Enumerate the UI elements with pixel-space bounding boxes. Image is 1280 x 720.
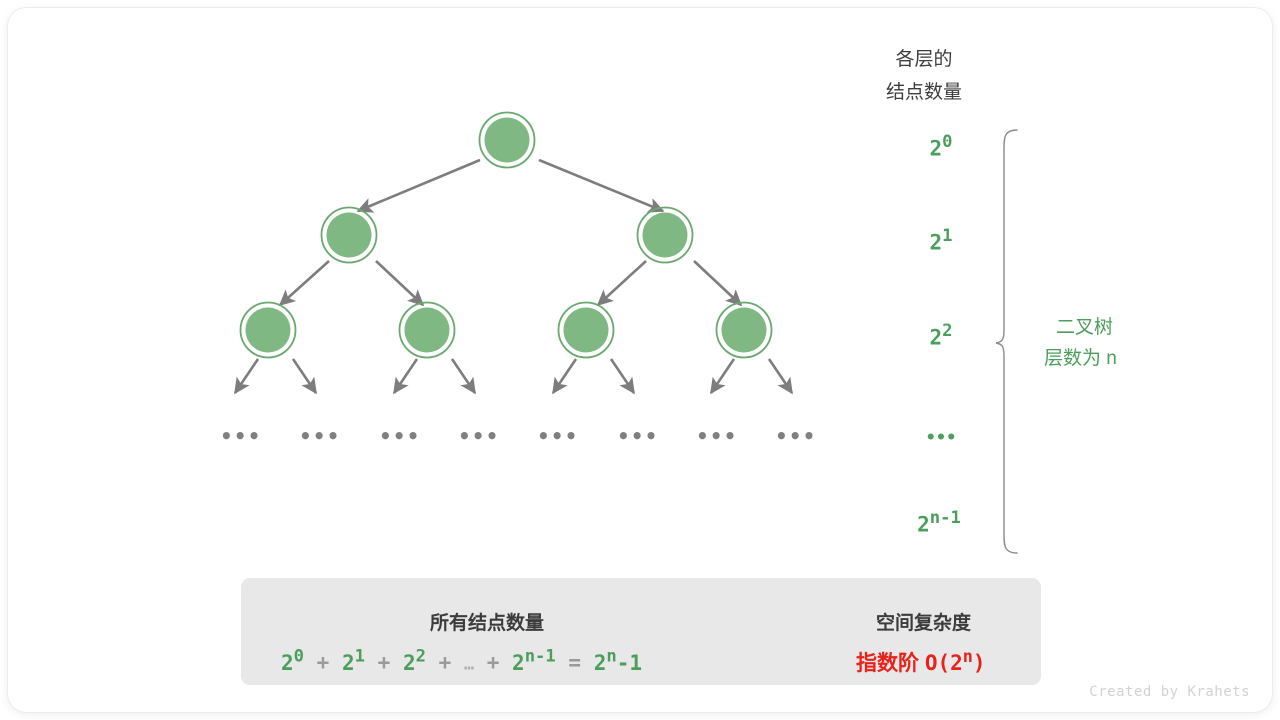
side-note-line1: 二叉树 bbox=[1056, 312, 1113, 343]
complexity-bigo-tail: ) bbox=[973, 651, 986, 675]
watermark: Created by Krahets bbox=[1089, 684, 1250, 700]
complexity-bigo-base: O(2 bbox=[925, 651, 963, 675]
side-note-line2: 层数为 n bbox=[1044, 343, 1117, 374]
formula-term-last: 2n-1 bbox=[512, 651, 556, 675]
formula-term-last-exp: n-1 bbox=[525, 646, 556, 666]
complexity-prefix: 指数阶 bbox=[856, 652, 919, 675]
tree-node bbox=[559, 303, 614, 358]
level-count-1: 21 bbox=[906, 226, 976, 255]
complexity-bigo-exp: n bbox=[963, 646, 973, 666]
counts-header-line2: 结点数量 bbox=[854, 77, 994, 104]
tree-node bbox=[322, 208, 377, 263]
level-count-0-exp: 0 bbox=[942, 132, 952, 152]
tree-node bbox=[638, 208, 693, 263]
formula-term-2: 22 bbox=[403, 651, 426, 675]
tree-node bbox=[717, 303, 772, 358]
formula-term-1-exp: 1 bbox=[355, 646, 365, 666]
complexity-value: 指数阶 O(2n) bbox=[856, 646, 986, 677]
formula-term-0-exp: 0 bbox=[294, 646, 304, 666]
tree-node bbox=[241, 303, 296, 358]
formula-plus: + bbox=[378, 651, 391, 675]
leaf-dots: ••• bbox=[775, 426, 816, 446]
formula-term-1: 21 bbox=[342, 651, 365, 675]
level-count-1-exp: 1 bbox=[942, 226, 952, 246]
leaf-dots: ••• bbox=[220, 426, 261, 446]
leaf-dots: ••• bbox=[696, 426, 737, 446]
leaf-dots: ••• bbox=[617, 426, 658, 446]
formula-result: 2n-1 bbox=[594, 651, 642, 675]
formula-plus: + bbox=[439, 651, 452, 675]
diagram-stage: 各层的 结点数量 20 21 22 ••• 2n-1 二叉树 层数为 n •••… bbox=[8, 8, 1272, 712]
formula-equals: = bbox=[568, 651, 581, 675]
complexity-bigo: O(2n) bbox=[925, 651, 986, 675]
level-count-0-base: 2 bbox=[929, 137, 942, 161]
level-count-ellipsis: ••• bbox=[906, 428, 976, 448]
formula-plus: + bbox=[317, 651, 330, 675]
tree-edges bbox=[235, 160, 792, 393]
leaf-dots: ••• bbox=[299, 426, 340, 446]
level-count-2-exp: 2 bbox=[942, 321, 952, 341]
summary-formula: 20 + 21 + 22 + … + 2n-1 = 2n-1 bbox=[281, 646, 642, 675]
leaf-dots: ••• bbox=[537, 426, 578, 446]
diagram-card: 各层的 结点数量 20 21 22 ••• 2n-1 二叉树 层数为 n •••… bbox=[8, 8, 1272, 712]
formula-term-0: 20 bbox=[281, 651, 304, 675]
leaf-dots: ••• bbox=[458, 426, 499, 446]
formula-ellipsis: … bbox=[464, 654, 474, 674]
leaf-dots: ••• bbox=[379, 426, 420, 446]
formula-term-2-exp: 2 bbox=[416, 646, 426, 666]
formula-result-tail: -1 bbox=[617, 651, 642, 675]
tree-node bbox=[480, 113, 535, 168]
formula-result-exp: n bbox=[606, 646, 616, 666]
formula-result-base: 2 bbox=[594, 651, 607, 675]
tree-nodes bbox=[241, 113, 772, 358]
level-count-last-exp: n-1 bbox=[930, 508, 961, 528]
level-count-0: 20 bbox=[906, 132, 976, 161]
level-count-2-base: 2 bbox=[929, 326, 942, 350]
summary-left-title: 所有结点数量 bbox=[430, 608, 544, 635]
counts-header-line1: 各层的 bbox=[854, 44, 994, 71]
level-span-brace bbox=[996, 130, 1017, 553]
level-count-last: 2n-1 bbox=[894, 508, 984, 537]
level-count-1-base: 2 bbox=[929, 231, 942, 255]
level-count-last-base: 2 bbox=[917, 513, 930, 537]
summary-right-title: 空间复杂度 bbox=[876, 608, 971, 635]
level-count-2: 22 bbox=[906, 321, 976, 350]
tree-node bbox=[400, 303, 455, 358]
formula-plus: + bbox=[487, 651, 500, 675]
